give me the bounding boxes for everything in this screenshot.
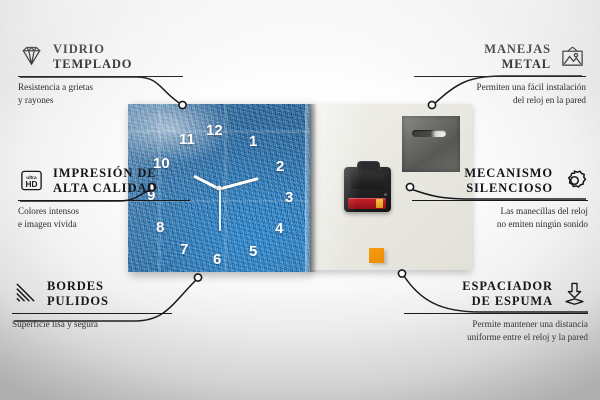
feature-manejas-metal[interactable]: MANEJAS METAL Permiten una fácil instala… [414,42,586,106]
polished-edge-icon [12,281,39,306]
feature-desc-2: del reloj en la pared [414,94,586,106]
down-arrow-pad-icon [561,281,588,306]
feature-mecanismo-silencioso[interactable]: MECANISMO SILENCIOSO Las manecillas del … [412,166,588,230]
feature-title: BORDES PULIDOS [47,279,109,309]
feature-desc-1: Permite mantener una distancia [404,318,588,330]
feature-impresion-alta-calidad[interactable]: ultra HD IMPRESIÓN DE ALTA CALIDAD Color… [18,166,190,230]
svg-text:HD: HD [26,180,38,189]
feature-desc-1: Resistencia a grietas [18,81,183,93]
title-rule [18,76,183,78]
gear-icon [561,168,588,193]
feature-title: VIDRIO TEMPLADO [53,42,132,72]
feature-header: VIDRIO TEMPLADO [18,42,183,72]
title-rule [12,313,172,315]
feature-desc-1: Permiten una fácil instalación [414,81,586,93]
title-rule [414,76,586,78]
feature-desc-2: uniforme entre el reloj y la pared [404,331,588,343]
feature-desc-1: Superficie lisa y segura [12,318,172,330]
ultra-hd-icon: ultra HD [18,168,45,193]
feature-vidrio-templado[interactable]: VIDRIO TEMPLADO Resistencia a grietas y … [18,42,183,106]
feature-header: MANEJAS METAL [414,42,586,72]
infographic-canvas: 12 1 2 3 4 5 6 7 8 9 10 11 [0,0,600,400]
title-rule [412,200,588,202]
feature-title: ESPACIADOR DE ESPUMA [404,279,553,309]
title-rule [18,200,190,202]
feature-desc-1: Colores intensos [18,205,190,217]
picture-frame-hanger-icon [559,44,586,69]
diamond-icon [18,44,45,69]
connector-dot-espaciador [398,270,405,277]
feature-bordes-pulidos[interactable]: BORDES PULIDOS Superficie lisa y segura [12,279,172,331]
feature-title: MECANISMO SILENCIOSO [412,166,553,196]
title-rule [404,313,588,315]
feature-header: ESPACIADOR DE ESPUMA [404,279,588,309]
feature-header: ultra HD IMPRESIÓN DE ALTA CALIDAD [18,166,190,196]
feature-espaciador-espuma[interactable]: ESPACIADOR DE ESPUMA Permite mantener un… [404,279,588,343]
feature-desc-1: Las manecillas del reloj [412,205,588,217]
connector-dot-bordes [194,274,201,281]
feature-desc-2: no emiten ningún sonido [412,218,588,230]
feature-desc-2: y rayones [18,94,183,106]
feature-header: BORDES PULIDOS [12,279,172,309]
feature-title: MANEJAS METAL [414,42,551,72]
feature-desc-2: e imagen vívida [18,218,190,230]
feature-header: MECANISMO SILENCIOSO [412,166,588,196]
feature-title: IMPRESIÓN DE ALTA CALIDAD [53,166,157,196]
